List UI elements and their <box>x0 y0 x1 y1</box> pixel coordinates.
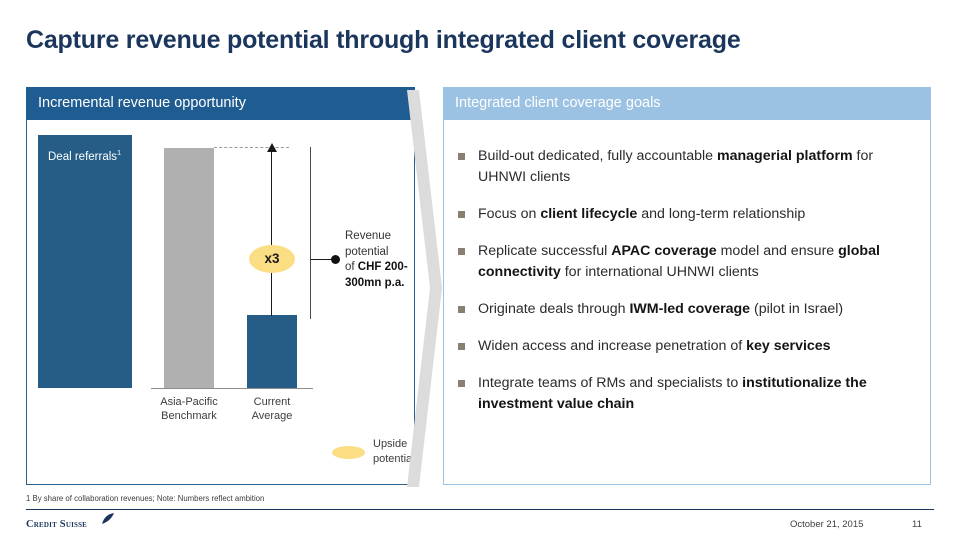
callout-line-3-bold: CHF 200- <box>358 261 408 273</box>
bar-asia-pacific-benchmark <box>164 148 214 388</box>
legend-swatch-upside-potential <box>332 446 365 459</box>
goal-list-item-text: Focus on client lifecycle and long-term … <box>478 204 912 225</box>
axis-label-line-2: Benchmark <box>161 410 217 422</box>
potential-range-line <box>310 147 311 319</box>
left-panel-header: Incremental revenue opportunity <box>26 87 415 120</box>
chevron-arrow-icon <box>404 90 448 487</box>
goal-text-run: Originate deals through <box>478 301 629 317</box>
slide-canvas: Capture revenue potential through integr… <box>0 0 960 540</box>
axis-label-line-1: Asia-Pacific <box>160 396 217 408</box>
goal-text-emphasis: managerial platform <box>717 148 853 164</box>
goal-text-run: Integrate teams of RMs and specialists t… <box>478 375 742 391</box>
goal-text-run: for international UHNWI clients <box>561 264 759 280</box>
footer-date: October 21, 2015 <box>790 519 863 530</box>
goal-list-item-text: Widen access and increase penetration of… <box>478 336 912 357</box>
goal-list-item-text: Build-out dedicated, fully accountable m… <box>478 146 912 188</box>
goal-list-item-text: Originate deals through IWM-led coverage… <box>478 299 912 320</box>
credit-suisse-logo: Credit Suisse <box>26 516 136 534</box>
goal-list-item-text: Replicate successful APAC coverage model… <box>478 241 912 283</box>
callout-line-3-prefix: of <box>345 261 358 273</box>
credit-suisse-sail-icon <box>101 513 115 525</box>
footer-divider <box>26 509 934 510</box>
callout-dot-icon <box>331 255 340 264</box>
goal-text-run: (pilot in Israel) <box>750 301 843 317</box>
bullet-square-icon <box>458 343 465 350</box>
axis-label-current-average: Current Average <box>234 395 310 423</box>
axis-label-line-1: Current <box>254 396 291 408</box>
footnote: 1 By share of collaboration revenues; No… <box>26 494 264 503</box>
deal-referrals-label: Deal referrals1 <box>48 148 121 163</box>
goal-text-run: model and ensure <box>717 243 838 259</box>
goal-list-item-text: Integrate teams of RMs and specialists t… <box>478 373 912 415</box>
page-title: Capture revenue potential through integr… <box>26 26 926 55</box>
benchmark-reference-line <box>214 147 289 148</box>
bullet-square-icon <box>458 211 465 218</box>
goal-text-emphasis: client lifecycle <box>540 206 637 222</box>
chart-baseline <box>151 388 313 389</box>
callout-leader-line <box>311 259 333 260</box>
axis-label-asia-pacific-benchmark: Asia-Pacific Benchmark <box>149 395 229 423</box>
right-panel-header: Integrated client coverage goals <box>443 87 931 120</box>
growth-arrow-shaft <box>271 149 272 316</box>
goal-text-run: and long-term relationship <box>637 206 805 222</box>
left-panel: Incremental revenue opportunity Deal ref… <box>26 87 415 485</box>
goal-list-item: Focus on client lifecycle and long-term … <box>458 204 912 225</box>
goal-text-run: Build-out dedicated, fully accountable <box>478 148 717 164</box>
multiplier-badge: x3 <box>249 245 295 273</box>
goal-text-emphasis: IWM-led coverage <box>629 301 750 317</box>
axis-label-line-2: Average <box>252 410 293 422</box>
bullet-square-icon <box>458 380 465 387</box>
goals-list: Build-out dedicated, fully accountable m… <box>443 120 931 485</box>
goal-text-emphasis: key services <box>746 338 830 354</box>
goal-text-run: Replicate successful <box>478 243 611 259</box>
bullet-square-icon <box>458 306 465 313</box>
callout-line-1: Revenue <box>345 230 391 242</box>
goal-text-run: Focus on <box>478 206 540 222</box>
goal-list-item: Widen access and increase penetration of… <box>458 336 912 357</box>
footnote-marker: 1 <box>117 148 121 157</box>
bullet-square-icon <box>458 248 465 255</box>
goal-list-item: Build-out dedicated, fully accountable m… <box>458 146 912 188</box>
bullet-square-icon <box>458 153 465 160</box>
legend-label-line-1: Upside <box>373 438 407 450</box>
callout-line-4-bold: 300mn p.a. <box>345 277 404 289</box>
left-panel-body: Deal referrals1 x3 Revenue potential of … <box>26 120 415 485</box>
goal-list-item: Integrate teams of RMs and specialists t… <box>458 373 912 415</box>
right-panel: Integrated client coverage goals Build-o… <box>443 87 931 485</box>
goal-text-run: Widen access and increase penetration of <box>478 338 746 354</box>
goal-list-item: Replicate successful APAC coverage model… <box>458 241 912 283</box>
callout-line-2: potential <box>345 246 388 258</box>
bar-current-average <box>247 315 297 388</box>
deal-referrals-text: Deal referrals <box>48 151 117 163</box>
footer-page-number: 11 <box>912 519 922 530</box>
goal-text-emphasis: APAC coverage <box>611 243 716 259</box>
deal-referrals-block: Deal referrals1 <box>38 135 132 388</box>
credit-suisse-logo-text: Credit Suisse <box>26 519 87 530</box>
growth-arrow-head <box>267 143 277 152</box>
goal-list-item: Originate deals through IWM-led coverage… <box>458 299 912 320</box>
bar-chart: x3 Revenue potential of CHF 200- 300mn p… <box>142 135 407 475</box>
